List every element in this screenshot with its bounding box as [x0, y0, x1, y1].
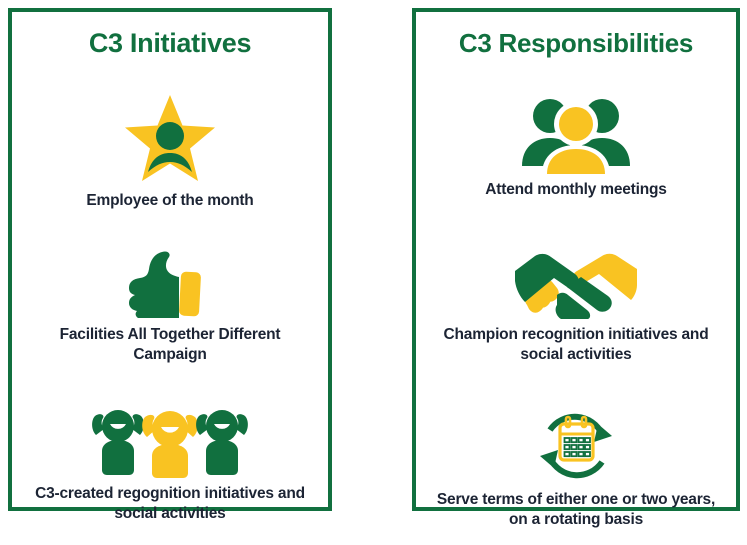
page-title-responsibilities: C3 Responsibilities: [459, 30, 693, 56]
rotating-calendar-icon: [536, 408, 616, 484]
panel-c3-initiatives: C3 Initiatives Employee of the month: [8, 8, 332, 511]
page-title-initiatives: C3 Initiatives: [89, 30, 251, 57]
list-item: C3-created regognition initiatives and s…: [12, 402, 328, 539]
responsibilities-list: Attend monthly meetings: [416, 78, 736, 545]
list-item: Employee of the month: [12, 93, 328, 226]
list-item: Facilities All Together Different Campai…: [12, 249, 328, 380]
list-item-label: Serve terms of either one or two years, …: [416, 490, 736, 530]
group-of-people-icon: [520, 96, 632, 174]
panel-c3-responsibilities: C3 Responsibilities: [412, 8, 740, 511]
list-item-label: Champion recognition initiatives and soc…: [416, 325, 736, 365]
initiatives-list: Employee of the month Facilities All Tog…: [12, 79, 328, 539]
list-item: Champion recognition initiatives and soc…: [416, 247, 736, 380]
list-item-label: Employee of the month: [70, 191, 269, 211]
handshake-icon: [513, 247, 639, 319]
star-person-icon: [122, 93, 218, 185]
list-item: Serve terms of either one or two years, …: [416, 408, 736, 545]
list-item: Attend monthly meetings: [416, 96, 736, 215]
infographic-canvas: C3 Initiatives Employee of the month: [0, 0, 747, 519]
list-item-label: Attend monthly meetings: [469, 180, 682, 200]
three-cheering-people-icon: [85, 402, 255, 478]
list-item-label: C3-created regognition initiatives and s…: [12, 484, 328, 524]
thumbs-up-icon: [124, 249, 216, 319]
list-item-label: Facilities All Together Different Campai…: [12, 325, 328, 365]
